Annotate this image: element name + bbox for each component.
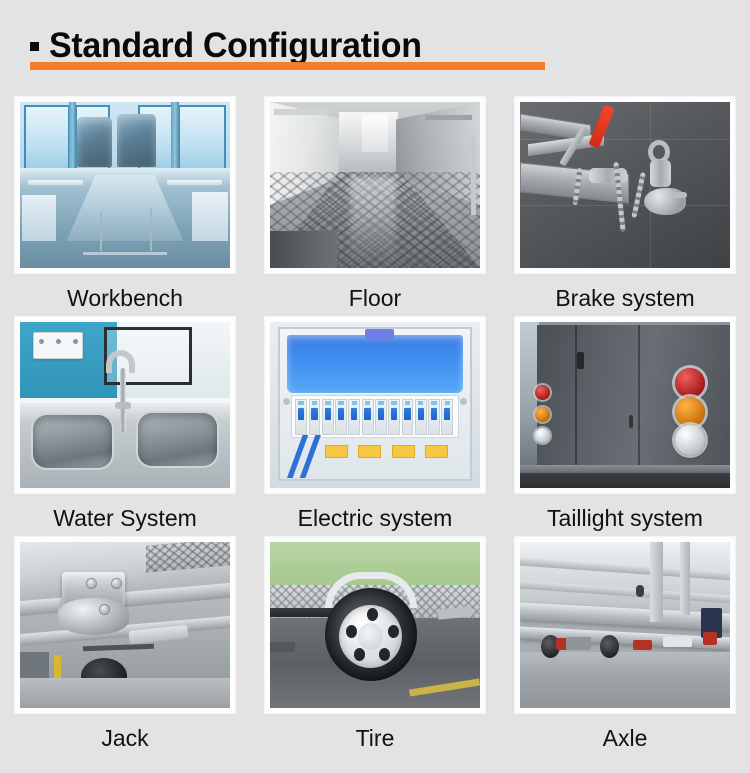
gallery-item-electric-system[interactable]: Electric system xyxy=(250,316,500,536)
configuration-gallery: Workbench Floor xyxy=(0,96,750,756)
trailer-wheel-tire-image xyxy=(270,542,480,708)
gallery-item-label: Floor xyxy=(349,285,401,311)
trailer-rear-taillights-image xyxy=(520,322,730,488)
thumbnail-frame[interactable] xyxy=(514,96,736,274)
gallery-item-taillight-system[interactable]: Taillight system xyxy=(500,316,750,536)
gallery-item-tire[interactable]: Tire xyxy=(250,536,500,756)
gallery-item-axle[interactable]: Axle xyxy=(500,536,750,756)
gallery-item-label: Electric system xyxy=(298,505,453,531)
thumbnail-frame[interactable] xyxy=(14,316,236,494)
thumbnail-frame[interactable] xyxy=(14,96,236,274)
double-sink-faucet-image xyxy=(20,322,230,488)
gallery-item-label: Brake system xyxy=(555,285,694,311)
gallery-item-jack[interactable]: Jack xyxy=(0,536,250,756)
gallery-item-label: Jack xyxy=(101,725,148,751)
trailer-interior-workbench-image xyxy=(20,102,230,268)
gallery-item-workbench[interactable]: Workbench xyxy=(0,96,250,316)
page-header: Standard Configuration xyxy=(0,0,750,92)
gallery-item-label: Water System xyxy=(53,505,197,531)
gallery-item-label: Taillight system xyxy=(547,505,703,531)
gallery-item-water-system[interactable]: Water System xyxy=(0,316,250,536)
thumbnail-frame[interactable] xyxy=(514,316,736,494)
thumbnail-frame[interactable] xyxy=(264,96,486,274)
breaker-distribution-box-image xyxy=(270,322,480,488)
title-underline-bar xyxy=(30,62,545,70)
thumbnail-frame[interactable] xyxy=(14,536,236,714)
page-title: Standard Configuration xyxy=(30,26,433,66)
page-title-text: Standard Configuration xyxy=(49,26,422,66)
trailer-coupler-brake-image xyxy=(520,102,730,268)
thumbnail-frame[interactable] xyxy=(514,536,736,714)
gallery-item-floor[interactable]: Floor xyxy=(250,96,500,316)
gallery-item-label: Workbench xyxy=(67,285,183,311)
gallery-item-label: Tire xyxy=(356,725,395,751)
gallery-item-label: Axle xyxy=(603,725,648,751)
trailer-axle-undercarriage-image xyxy=(520,542,730,708)
gallery-item-brake-system[interactable]: Brake system xyxy=(500,96,750,316)
thumbnail-frame[interactable] xyxy=(264,316,486,494)
trailer-jack-underside-image xyxy=(20,542,230,708)
diamond-plate-floor-image xyxy=(270,102,480,268)
thumbnail-frame[interactable] xyxy=(264,536,486,714)
square-bullet-icon xyxy=(30,42,39,51)
